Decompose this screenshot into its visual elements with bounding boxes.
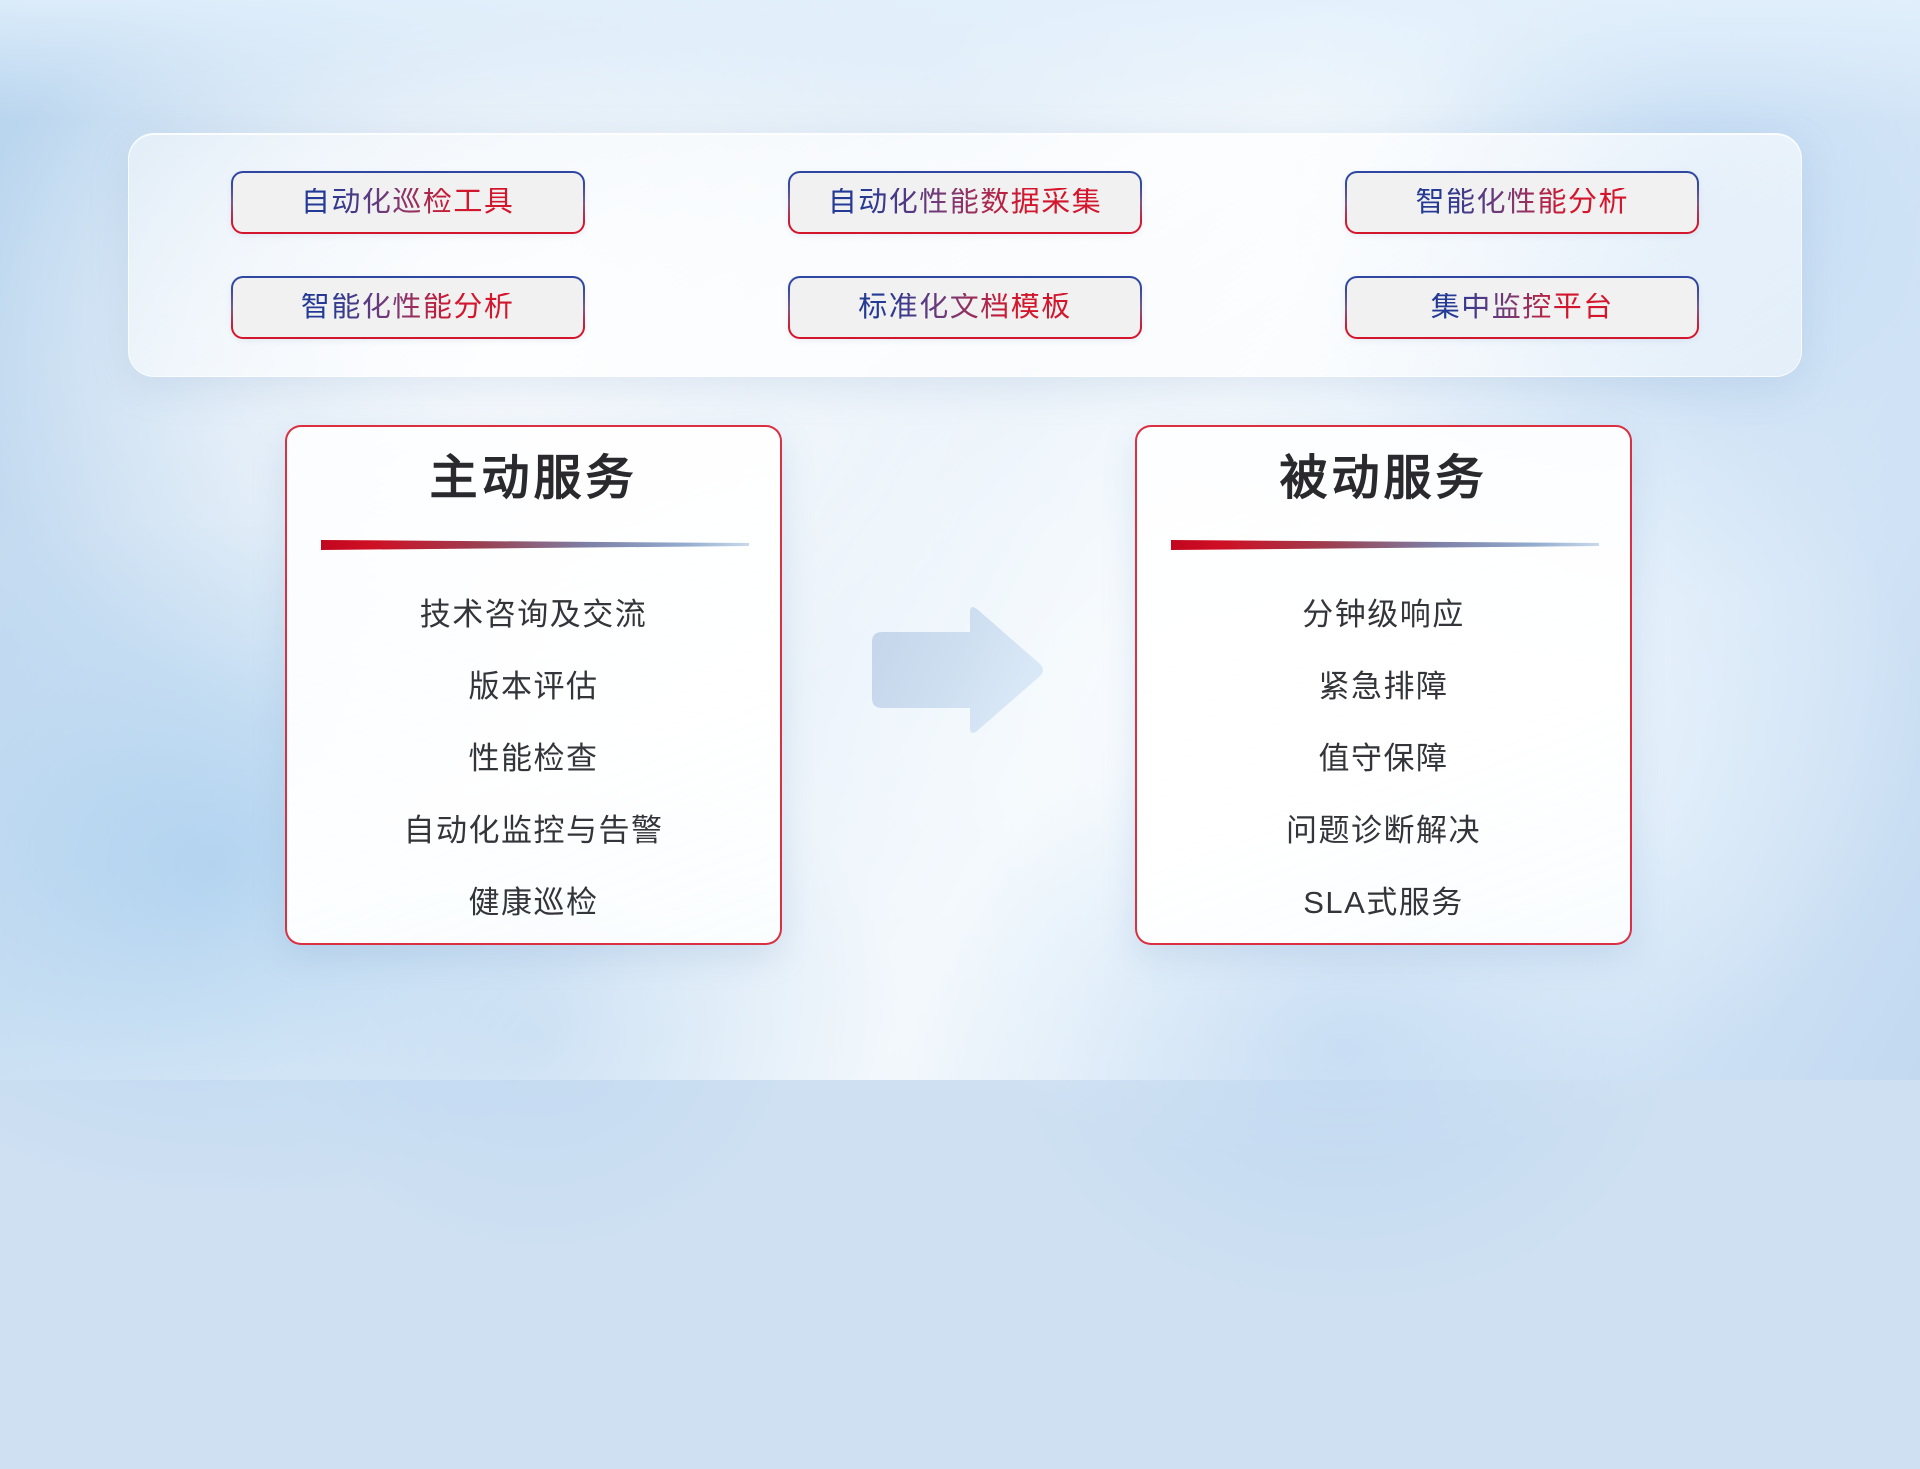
capability-pill-label: 智能化性能分析 (1416, 188, 1630, 217)
capability-pill-label: 智能化性能分析 (301, 293, 515, 322)
gradient-divider-icon (1171, 537, 1599, 551)
service-list-item: 版本评估 (469, 651, 599, 723)
service-item-list: 技术咨询及交流 版本评估 性能检查 自动化监控与告警 健康巡检 (287, 579, 780, 939)
service-list-item: 分钟级响应 (1302, 579, 1465, 651)
arrow-right-icon (866, 604, 1046, 736)
service-list-item: SLA式服务 (1303, 867, 1464, 939)
gradient-divider-icon (321, 537, 749, 551)
service-card-reactive[interactable]: 被动服务 分钟级响应 紧急排障 值守保障 问题诊断解决 SLA式服务 (1135, 425, 1632, 945)
background-top-haze (0, 0, 1920, 120)
capability-pill-auto-inspection-tool[interactable]: 自动化巡检工具 (231, 171, 585, 234)
capability-pill-label: 自动化巡检工具 (301, 188, 515, 217)
capability-pill-central-monitoring-platform[interactable]: 集中监控平台 (1345, 276, 1699, 339)
capabilities-panel: 自动化巡检工具 自动化性能数据采集 智能化性能分析 智能化性能分析 标准化文档模… (128, 133, 1802, 377)
capability-pill-auto-perf-data-collection[interactable]: 自动化性能数据采集 (788, 171, 1142, 234)
capability-pill-grid: 自动化巡检工具 自动化性能数据采集 智能化性能分析 智能化性能分析 标准化文档模… (129, 134, 1801, 376)
capability-pill-label: 集中监控平台 (1431, 293, 1614, 322)
service-list-item: 性能检查 (469, 723, 599, 795)
service-item-list: 分钟级响应 紧急排障 值守保障 问题诊断解决 SLA式服务 (1137, 579, 1630, 939)
capability-pill-intelligent-perf-analysis[interactable]: 智能化性能分析 (1345, 171, 1699, 234)
service-list-item: 紧急排障 (1319, 651, 1449, 723)
service-card-proactive[interactable]: 主动服务 技术咨询及交流 版本评估 性能检查 自动化监控与告警 健康巡检 (285, 425, 782, 945)
service-card-title: 被动服务 (1137, 455, 1630, 503)
service-list-item: 自动化监控与告警 (404, 795, 664, 867)
capability-pill-intelligent-perf-analysis-2[interactable]: 智能化性能分析 (231, 276, 585, 339)
service-list-item: 健康巡检 (469, 867, 599, 939)
capability-pill-label: 标准化文档模板 (858, 293, 1072, 322)
service-list-item: 技术咨询及交流 (420, 579, 648, 651)
service-list-item: 值守保障 (1319, 723, 1449, 795)
capability-pill-standard-doc-template[interactable]: 标准化文档模板 (788, 276, 1142, 339)
service-list-item: 问题诊断解决 (1286, 795, 1481, 867)
service-card-title: 主动服务 (287, 455, 780, 503)
capability-pill-label: 自动化性能数据采集 (828, 188, 1103, 217)
